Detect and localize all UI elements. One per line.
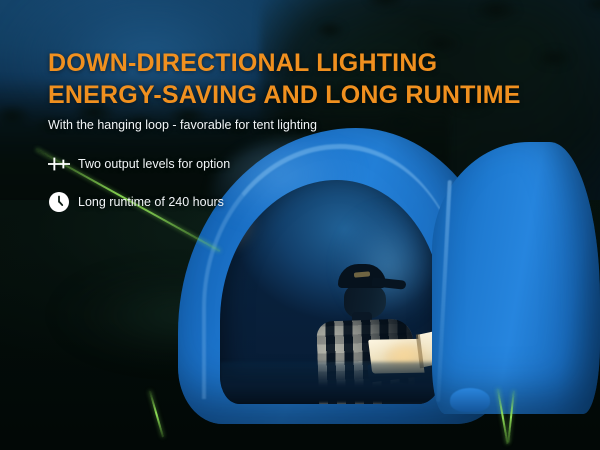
product-feature-banner: DOWN-DIRECTIONAL LIGHTING ENERGY-SAVING …: [0, 0, 600, 450]
feature-item: Long runtime of 240 hours: [44, 186, 230, 218]
output-levels-icon: [44, 151, 74, 177]
subtitle: With the hanging loop - favorable for te…: [48, 118, 317, 132]
feature-label: Two output levels for option: [78, 157, 230, 171]
text-overlay: DOWN-DIRECTIONAL LIGHTING ENERGY-SAVING …: [0, 0, 600, 450]
feature-list: Two output levels for option Long runtim…: [44, 148, 230, 224]
headline: DOWN-DIRECTIONAL LIGHTING ENERGY-SAVING …: [48, 48, 521, 111]
feature-label: Long runtime of 240 hours: [78, 195, 224, 209]
headline-line-2: ENERGY-SAVING AND LONG RUNTIME: [48, 80, 521, 112]
headline-line-1: DOWN-DIRECTIONAL LIGHTING: [48, 48, 521, 80]
feature-item: Two output levels for option: [44, 148, 230, 180]
clock-icon: [44, 189, 74, 215]
